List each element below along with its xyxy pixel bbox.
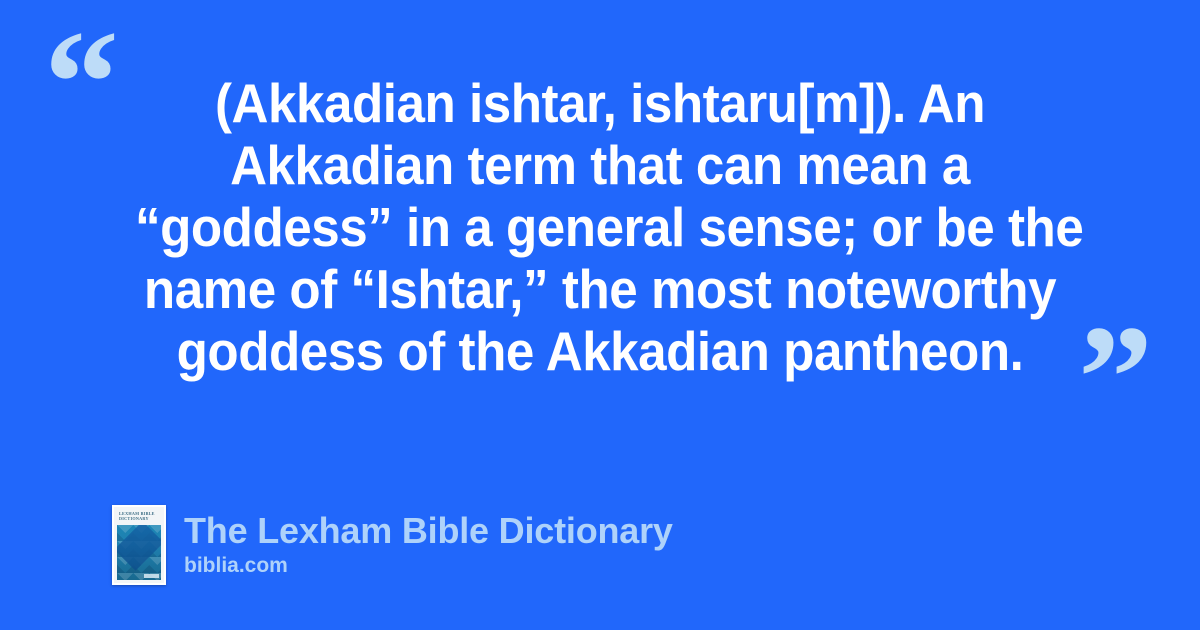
- quote-line: name of “Ishtar,” the most noteworthy: [135, 258, 1065, 320]
- book-cover-title: LEXHAM BIBLE DICTIONARY: [114, 507, 164, 524]
- book-cover-thumbnail-icon: LEXHAM BIBLE DICTIONARY: [112, 505, 166, 585]
- quote-line: (Akkadian ishtar, ishtaru[m]). An: [135, 72, 1065, 134]
- quote-line: “goddess” in a general sense; or be the: [135, 196, 1065, 258]
- source-url[interactable]: biblia.com: [184, 553, 673, 579]
- quote-text-block: (Akkadian ishtar, ishtaru[m]). An Akkadi…: [100, 72, 1100, 382]
- source-title: The Lexham Bible Dictionary: [184, 511, 673, 551]
- source-text-group: The Lexham Bible Dictionary biblia.com: [184, 511, 673, 579]
- quote-card: “ (Akkadian ishtar, ishtaru[m]). An Akka…: [0, 0, 1200, 630]
- book-cover-artwork: [117, 525, 161, 580]
- source-attribution: LEXHAM BIBLE DICTIONARY The Lexham Bible…: [112, 505, 673, 585]
- book-cover-publisher-badge: [144, 574, 159, 578]
- quote-line: goddess of the Akkadian pantheon.: [135, 320, 1065, 382]
- closing-quote-icon: ”: [1078, 303, 1153, 453]
- book-cover-inner: LEXHAM BIBLE DICTIONARY: [114, 507, 164, 583]
- quote-line: Akkadian term that can mean a: [135, 134, 1065, 196]
